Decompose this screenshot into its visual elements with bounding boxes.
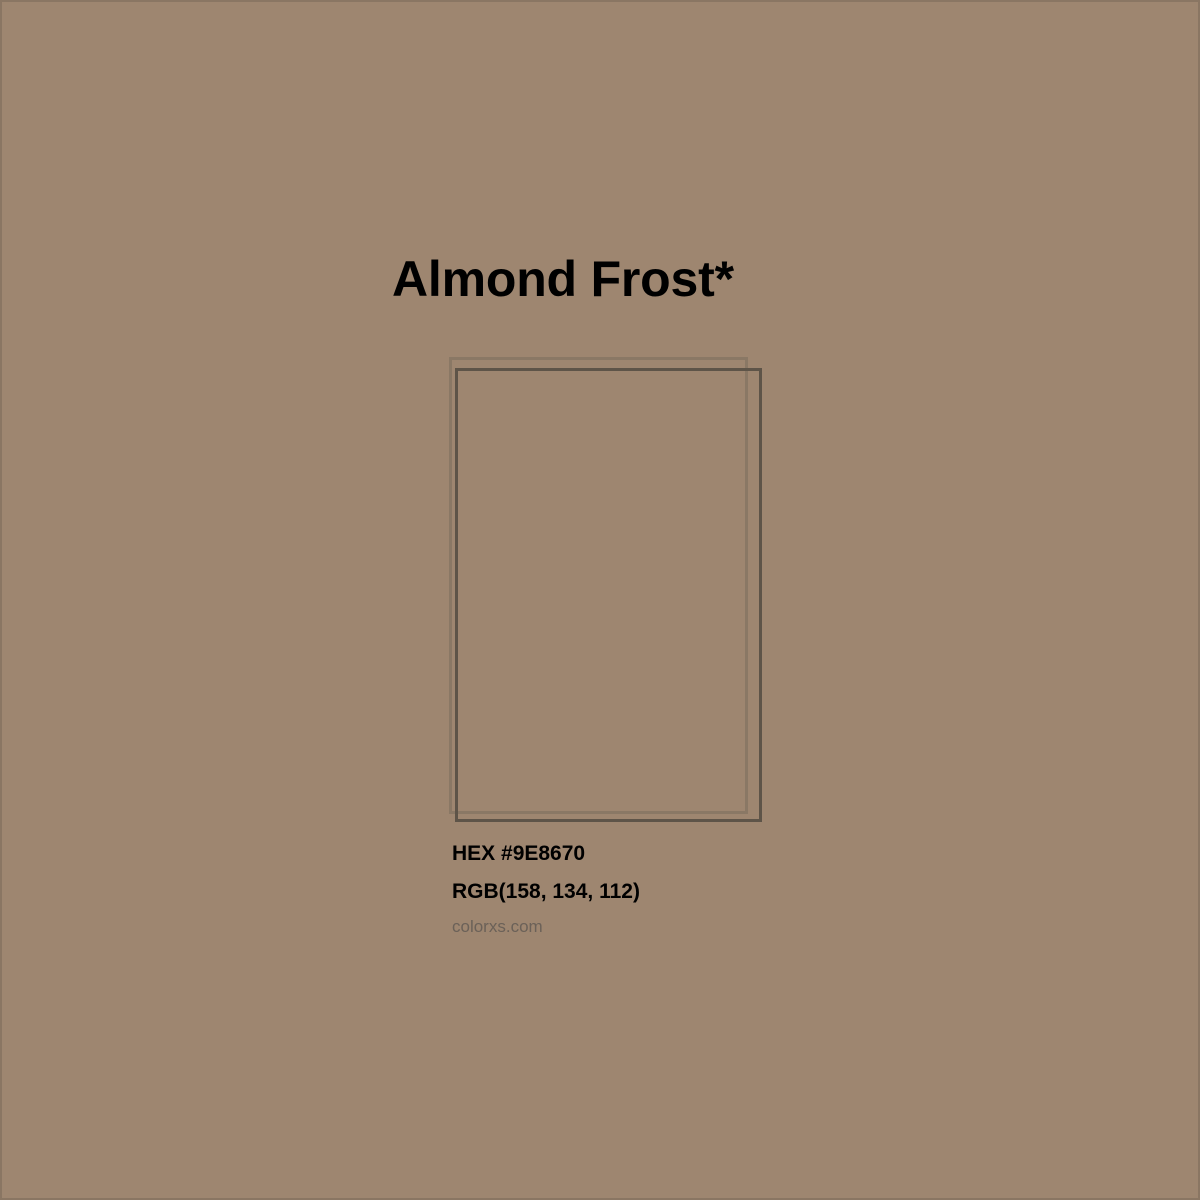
color-swatch bbox=[2, 2, 1200, 1202]
color-info-block: HEX #9E8670 RGB(158, 134, 112) colorxs.c… bbox=[452, 835, 972, 938]
hex-value-label: HEX #9E8670 bbox=[452, 835, 972, 873]
page-title: Almond Frost* bbox=[392, 248, 734, 310]
source-attribution: colorxs.com bbox=[452, 911, 972, 938]
rgb-value-label: RGB(158, 134, 112) bbox=[452, 873, 972, 911]
swatch-frame-front bbox=[455, 368, 762, 822]
swatch-frame-back bbox=[449, 357, 748, 814]
color-card: Almond Frost* HEX #9E8670 RGB(158, 134, … bbox=[0, 0, 1200, 1200]
